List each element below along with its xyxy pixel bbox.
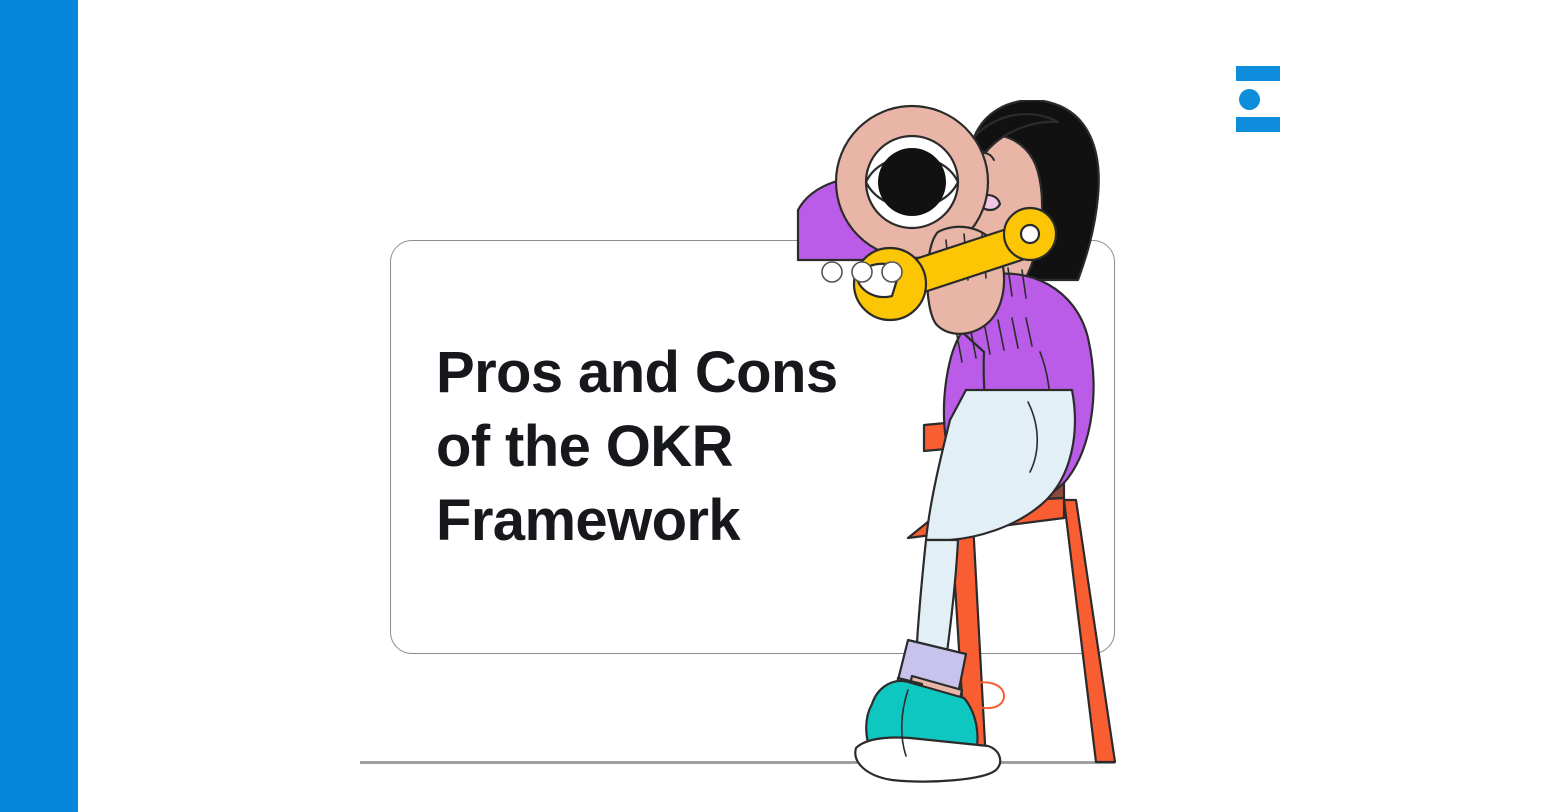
- poster-canvas: Pros and Cons of the OKR Framework: [0, 0, 1548, 812]
- logo-dot-icon: [1239, 89, 1260, 110]
- bubbles-icon: [822, 262, 902, 282]
- brand-logo[interactable]: [1236, 66, 1282, 132]
- left-accent-bar: [0, 0, 78, 812]
- logo-bottom-bar-icon: [1236, 117, 1280, 132]
- logo-top-bar-icon: [1236, 66, 1280, 81]
- page-title: Pros and Cons of the OKR Framework: [436, 336, 906, 558]
